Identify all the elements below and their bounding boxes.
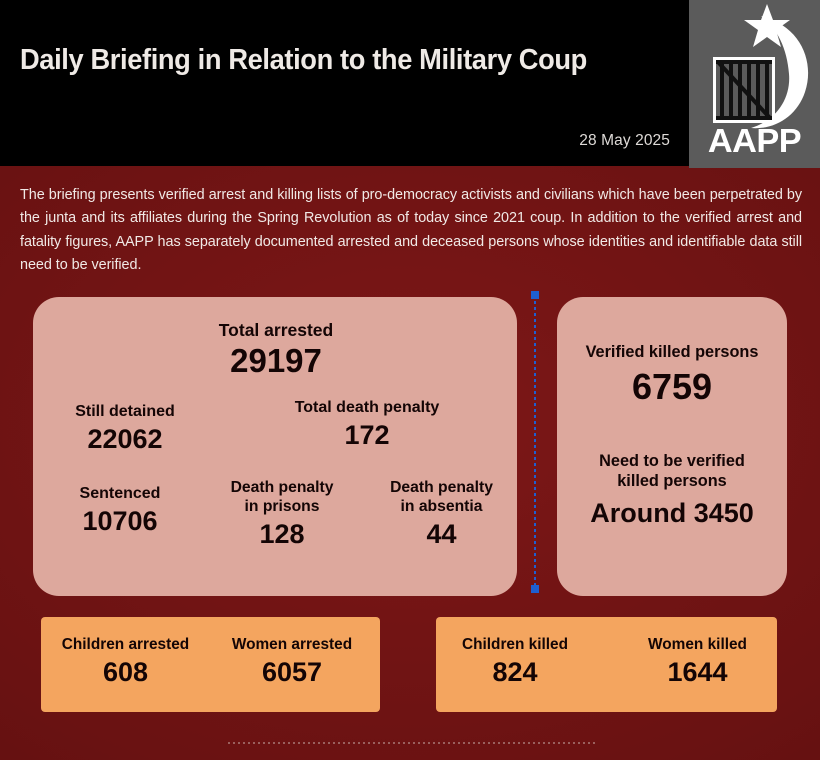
- stat-children-arrested: Children arrested 608: [48, 636, 203, 688]
- stat-death-penalty-in-prisons-label: Death penalty in prisons: [200, 479, 364, 517]
- stat-verified-killed-persons: Verified killed persons 6759: [557, 343, 787, 407]
- stat-children-killed-label: Children killed: [440, 636, 590, 654]
- stat-verified-killed-persons-label: Verified killed persons: [557, 343, 787, 363]
- page-title: Daily Briefing in Relation to the Milita…: [20, 44, 631, 77]
- stat-sentenced-value: 10706: [35, 506, 205, 536]
- vertical-guide-handle-bottom[interactable]: [531, 585, 539, 593]
- aapp-logo-text: AAPP: [689, 122, 820, 160]
- stat-sentenced: Sentenced 10706: [35, 484, 205, 536]
- stat-total-death-penalty-label: Total death penalty: [272, 398, 462, 417]
- stat-total-arrested-value: 29197: [160, 343, 392, 380]
- infographic-canvas: Daily Briefing in Relation to the Milita…: [0, 0, 820, 760]
- stat-need-to-be-verified-label: Need to be verified killed persons: [557, 452, 787, 491]
- stat-women-arrested-label: Women arrested: [214, 636, 370, 654]
- stat-still-detained-value: 22062: [35, 424, 215, 454]
- vertical-guide-handle-top[interactable]: [531, 291, 539, 299]
- stat-total-death-penalty: Total death penalty 172: [272, 398, 462, 450]
- stat-total-death-penalty-value: 172: [272, 420, 462, 450]
- stat-sentenced-label: Sentenced: [35, 484, 205, 503]
- stat-death-penalty-in-absentia-label: Death penalty in absentia: [364, 479, 519, 517]
- stat-still-detained-label: Still detained: [35, 402, 215, 421]
- stat-death-penalty-in-prisons-value: 128: [200, 519, 364, 549]
- horizontal-guide-line[interactable]: [228, 742, 596, 744]
- briefing-date: 28 May 2025: [579, 132, 670, 150]
- stat-children-killed: Children killed 824: [440, 636, 590, 688]
- stat-death-penalty-in-prisons: Death penalty in prisons 128: [200, 479, 364, 549]
- vertical-guide-line[interactable]: [534, 295, 536, 589]
- stat-still-detained: Still detained 22062: [35, 402, 215, 454]
- stat-women-arrested: Women arrested 6057: [214, 636, 370, 688]
- stat-women-arrested-value: 6057: [214, 657, 370, 687]
- stat-women-killed-value: 1644: [620, 657, 775, 687]
- stat-children-arrested-value: 608: [48, 657, 203, 687]
- stat-need-to-be-verified-killed-persons: Need to be verified killed persons Aroun…: [557, 452, 787, 528]
- stat-children-killed-value: 824: [440, 657, 590, 687]
- stat-children-arrested-label: Children arrested: [48, 636, 203, 654]
- stat-total-arrested: Total arrested 29197: [160, 320, 392, 380]
- stat-death-penalty-in-absentia-value: 44: [364, 519, 519, 549]
- aapp-logo-panel: AAPP: [689, 0, 820, 168]
- stat-verified-killed-persons-value: 6759: [557, 367, 787, 407]
- stat-total-arrested-label: Total arrested: [160, 320, 392, 341]
- killed-statistics-card: [557, 297, 787, 596]
- stat-women-killed: Women killed 1644: [620, 636, 775, 688]
- intro-paragraph: The briefing presents verified arrest an…: [20, 184, 802, 277]
- stat-need-to-be-verified-value: Around 3450: [557, 498, 787, 528]
- stat-death-penalty-in-absentia: Death penalty in absentia 44: [364, 479, 519, 549]
- stat-women-killed-label: Women killed: [620, 636, 775, 654]
